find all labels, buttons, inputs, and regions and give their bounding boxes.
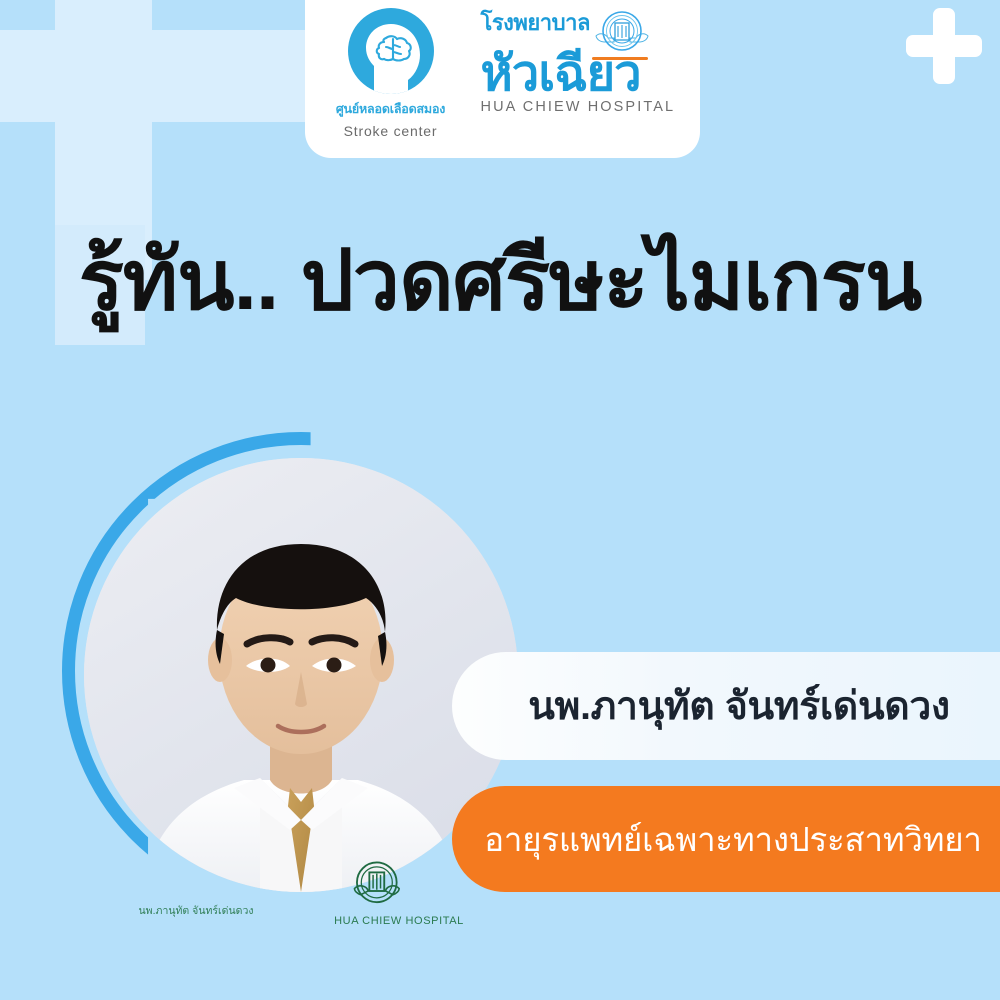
hospital-crest-icon: [594, 8, 650, 56]
coat-emblem: [354, 862, 399, 902]
hospital-logo: โรงพยาบาล หัวเฉ: [481, 8, 691, 115]
doctor-specialty-banner: อายุรแพทย์เฉพาะทางประสาทวิทยา: [452, 786, 1000, 892]
poster-canvas: ศูนย์หลอดเลือดสมอง Stroke center โรงพยาบ…: [0, 0, 1000, 1000]
doctor-name-banner: นพ.ภานุทัต จันทร์เด่นดวง: [452, 652, 1000, 760]
plus-icon-vertical: [933, 8, 955, 84]
hospital-name-en: HUA CHIEW HOSPITAL: [481, 99, 676, 115]
stroke-center-logo: ศูนย์หลอดเลือดสมอง Stroke center: [315, 8, 467, 139]
hospital-name-th-line1: โรงพยาบาล: [481, 12, 590, 34]
logo-card: ศูนย์หลอดเลือดสมอง Stroke center โรงพยาบ…: [305, 0, 700, 158]
stroke-center-caption-th: ศูนย์หลอดเลือดสมอง: [336, 99, 445, 119]
cross-watermark-horizontal-bar: [0, 30, 310, 122]
coat-emblem-text: HUA CHIEW HOSPITAL: [334, 915, 464, 927]
plus-icon: [906, 8, 982, 84]
stroke-center-caption-en: Stroke center: [344, 123, 438, 139]
hospital-crest-underline: [592, 57, 648, 60]
doctor-name: นพ.ภานุทัต จันทร์เด่นดวง: [528, 675, 949, 737]
page-title: รู้ทัน.. ปวดศรีษะไมเกรน: [0, 236, 1000, 325]
doctor-specialty: อายุรแพทย์เฉพาะทางประสาทวิทยา: [484, 813, 981, 866]
brain-head-icon: [348, 8, 434, 94]
portrait-coat-detail: HUA CHIEW HOSPITAL นพ.ภานุทัต จันทร์เด่น…: [84, 732, 518, 1000]
coat-name-embroidery: นพ.ภานุทัต จันทร์เด่นดวง: [139, 904, 254, 917]
